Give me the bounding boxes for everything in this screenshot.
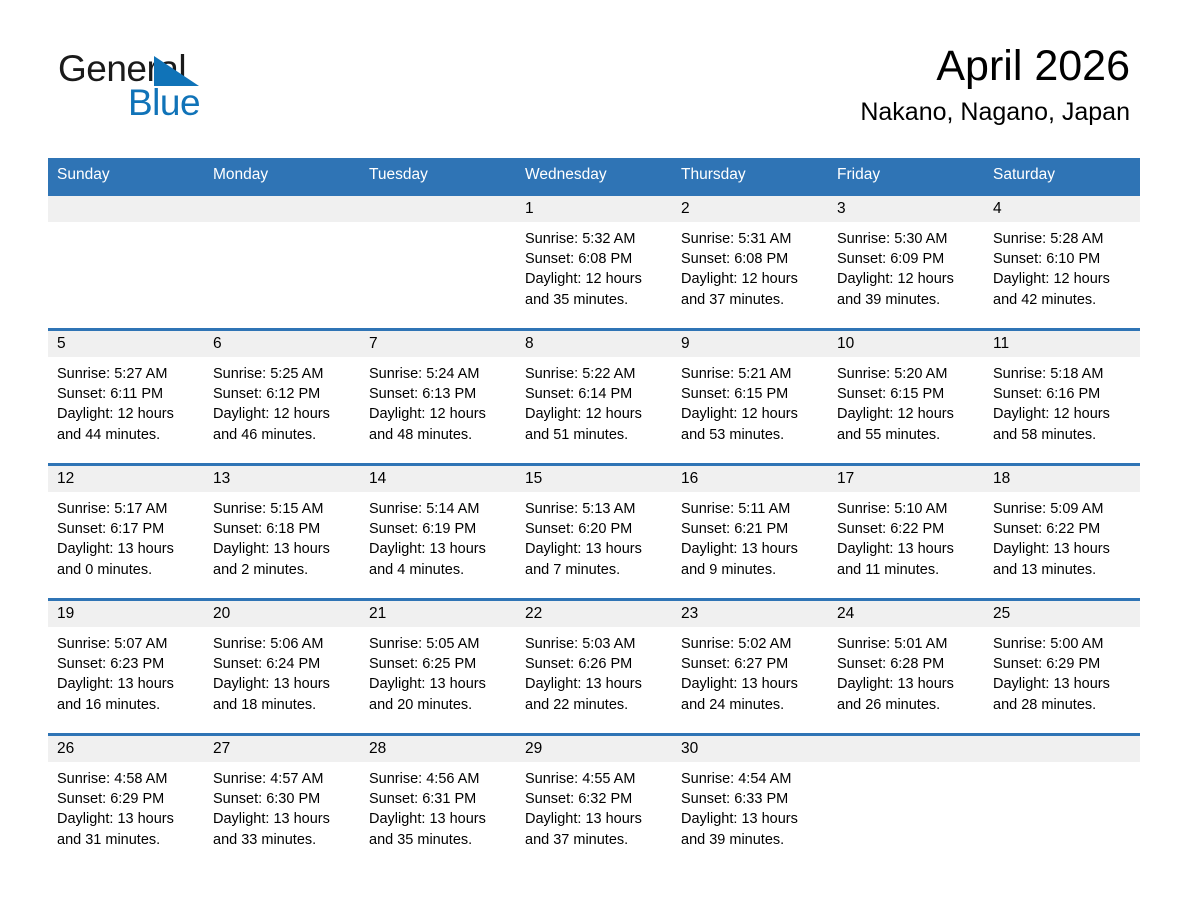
sunrise-time: Sunrise: 4:58 AM	[57, 769, 198, 789]
sunset-time: Sunset: 6:15 PM	[681, 384, 822, 404]
sunset-time: Sunset: 6:17 PM	[57, 519, 198, 539]
day-details: Sunrise: 5:25 AMSunset: 6:12 PMDaylight:…	[204, 357, 360, 445]
sunrise-time: Sunrise: 5:01 AM	[837, 634, 978, 654]
weekday-header-friday: Friday	[828, 158, 984, 195]
daylight-duration-line2: and 42 minutes.	[993, 290, 1134, 310]
sunset-time: Sunset: 6:21 PM	[681, 519, 822, 539]
sunrise-time: Sunrise: 5:10 AM	[837, 499, 978, 519]
daylight-duration-line1: Daylight: 12 hours	[993, 404, 1134, 424]
daylight-duration-line2: and 22 minutes.	[525, 695, 666, 715]
daylight-duration-line1: Daylight: 13 hours	[681, 809, 822, 829]
daylight-duration-line1: Daylight: 13 hours	[369, 539, 510, 559]
weekday-header-thursday: Thursday	[672, 158, 828, 195]
day-cell[interactable]: 6Sunrise: 5:25 AMSunset: 6:12 PMDaylight…	[204, 330, 360, 465]
day-cell[interactable]: 25Sunrise: 5:00 AMSunset: 6:29 PMDayligh…	[984, 600, 1140, 735]
weekday-header-tuesday: Tuesday	[360, 158, 516, 195]
sunrise-time: Sunrise: 4:54 AM	[681, 769, 822, 789]
sunrise-time: Sunrise: 5:27 AM	[57, 364, 198, 384]
daylight-duration-line2: and 13 minutes.	[993, 560, 1134, 580]
daylight-duration-line1: Daylight: 13 hours	[525, 674, 666, 694]
day-number: 5	[48, 331, 204, 357]
day-cell[interactable]: 12Sunrise: 5:17 AMSunset: 6:17 PMDayligh…	[48, 465, 204, 600]
sunset-time: Sunset: 6:09 PM	[837, 249, 978, 269]
sunset-time: Sunset: 6:08 PM	[525, 249, 666, 269]
day-cell[interactable]: 23Sunrise: 5:02 AMSunset: 6:27 PMDayligh…	[672, 600, 828, 735]
sunset-time: Sunset: 6:10 PM	[993, 249, 1134, 269]
daylight-duration-line1: Daylight: 12 hours	[993, 269, 1134, 289]
day-cell[interactable]: 3Sunrise: 5:30 AMSunset: 6:09 PMDaylight…	[828, 195, 984, 330]
day-cell[interactable]: 11Sunrise: 5:18 AMSunset: 6:16 PMDayligh…	[984, 330, 1140, 465]
day-details: Sunrise: 5:28 AMSunset: 6:10 PMDaylight:…	[984, 222, 1140, 310]
daylight-duration-line2: and 20 minutes.	[369, 695, 510, 715]
day-number: 29	[516, 736, 672, 762]
sunset-time: Sunset: 6:11 PM	[57, 384, 198, 404]
day-number: 13	[204, 466, 360, 492]
daylight-duration-line2: and 35 minutes.	[369, 830, 510, 850]
day-cell[interactable]: 8Sunrise: 5:22 AMSunset: 6:14 PMDaylight…	[516, 330, 672, 465]
day-cell[interactable]: 14Sunrise: 5:14 AMSunset: 6:19 PMDayligh…	[360, 465, 516, 600]
week-row: 5Sunrise: 5:27 AMSunset: 6:11 PMDaylight…	[48, 330, 1140, 465]
sunset-time: Sunset: 6:16 PM	[993, 384, 1134, 404]
day-details: Sunrise: 4:56 AMSunset: 6:31 PMDaylight:…	[360, 762, 516, 850]
sunrise-time: Sunrise: 5:14 AM	[369, 499, 510, 519]
day-number: 30	[672, 736, 828, 762]
day-cell-empty	[984, 735, 1140, 870]
sunrise-time: Sunrise: 5:06 AM	[213, 634, 354, 654]
day-number: 16	[672, 466, 828, 492]
sunset-time: Sunset: 6:28 PM	[837, 654, 978, 674]
day-number: 23	[672, 601, 828, 627]
sunset-time: Sunset: 6:32 PM	[525, 789, 666, 809]
daylight-duration-line1: Daylight: 13 hours	[213, 539, 354, 559]
day-details: Sunrise: 4:54 AMSunset: 6:33 PMDaylight:…	[672, 762, 828, 850]
sunset-time: Sunset: 6:08 PM	[681, 249, 822, 269]
sunrise-time: Sunrise: 5:30 AM	[837, 229, 978, 249]
sunrise-time: Sunrise: 5:32 AM	[525, 229, 666, 249]
daylight-duration-line1: Daylight: 12 hours	[213, 404, 354, 424]
daylight-duration-line1: Daylight: 13 hours	[681, 674, 822, 694]
daylight-duration-line2: and 31 minutes.	[57, 830, 198, 850]
daylight-duration-line1: Daylight: 13 hours	[525, 809, 666, 829]
weekday-header-wednesday: Wednesday	[516, 158, 672, 195]
day-number: 10	[828, 331, 984, 357]
sunset-time: Sunset: 6:13 PM	[369, 384, 510, 404]
daylight-duration-line2: and 46 minutes.	[213, 425, 354, 445]
sunrise-time: Sunrise: 5:07 AM	[57, 634, 198, 654]
day-details: Sunrise: 5:13 AMSunset: 6:20 PMDaylight:…	[516, 492, 672, 580]
sunset-time: Sunset: 6:29 PM	[993, 654, 1134, 674]
day-number	[48, 196, 204, 222]
sunset-time: Sunset: 6:22 PM	[993, 519, 1134, 539]
day-details: Sunrise: 5:22 AMSunset: 6:14 PMDaylight:…	[516, 357, 672, 445]
day-cell[interactable]: 15Sunrise: 5:13 AMSunset: 6:20 PMDayligh…	[516, 465, 672, 600]
sunset-time: Sunset: 6:31 PM	[369, 789, 510, 809]
daylight-duration-line2: and 9 minutes.	[681, 560, 822, 580]
daylight-duration-line1: Daylight: 12 hours	[57, 404, 198, 424]
day-details: Sunrise: 4:55 AMSunset: 6:32 PMDaylight:…	[516, 762, 672, 850]
day-number: 3	[828, 196, 984, 222]
sunset-time: Sunset: 6:14 PM	[525, 384, 666, 404]
week-row: 12Sunrise: 5:17 AMSunset: 6:17 PMDayligh…	[48, 465, 1140, 600]
calendar-table: SundayMondayTuesdayWednesdayThursdayFrid…	[48, 158, 1140, 870]
daylight-duration-line2: and 28 minutes.	[993, 695, 1134, 715]
sunset-time: Sunset: 6:30 PM	[213, 789, 354, 809]
day-details: Sunrise: 5:02 AMSunset: 6:27 PMDaylight:…	[672, 627, 828, 715]
day-cell[interactable]: 13Sunrise: 5:15 AMSunset: 6:18 PMDayligh…	[204, 465, 360, 600]
day-cell[interactable]: 22Sunrise: 5:03 AMSunset: 6:26 PMDayligh…	[516, 600, 672, 735]
day-cell[interactable]: 7Sunrise: 5:24 AMSunset: 6:13 PMDaylight…	[360, 330, 516, 465]
day-details: Sunrise: 5:05 AMSunset: 6:25 PMDaylight:…	[360, 627, 516, 715]
daylight-duration-line2: and 53 minutes.	[681, 425, 822, 445]
day-cell[interactable]: 9Sunrise: 5:21 AMSunset: 6:15 PMDaylight…	[672, 330, 828, 465]
daylight-duration-line2: and 39 minutes.	[681, 830, 822, 850]
day-details: Sunrise: 5:07 AMSunset: 6:23 PMDaylight:…	[48, 627, 204, 715]
daylight-duration-line1: Daylight: 13 hours	[369, 809, 510, 829]
sunrise-time: Sunrise: 5:18 AM	[993, 364, 1134, 384]
daylight-duration-line1: Daylight: 13 hours	[369, 674, 510, 694]
day-number: 15	[516, 466, 672, 492]
sunrise-time: Sunrise: 5:25 AM	[213, 364, 354, 384]
daylight-duration-line1: Daylight: 12 hours	[681, 404, 822, 424]
daylight-duration-line2: and 2 minutes.	[213, 560, 354, 580]
day-cell[interactable]: 5Sunrise: 5:27 AMSunset: 6:11 PMDaylight…	[48, 330, 204, 465]
day-cell[interactable]: 17Sunrise: 5:10 AMSunset: 6:22 PMDayligh…	[828, 465, 984, 600]
day-number: 1	[516, 196, 672, 222]
day-number: 17	[828, 466, 984, 492]
sunrise-time: Sunrise: 5:05 AM	[369, 634, 510, 654]
daylight-duration-line1: Daylight: 12 hours	[525, 269, 666, 289]
day-details: Sunrise: 5:30 AMSunset: 6:09 PMDaylight:…	[828, 222, 984, 310]
calendar-page: General Blue April 2026 Nakano, Nagano, …	[0, 0, 1188, 918]
sunrise-time: Sunrise: 5:28 AM	[993, 229, 1134, 249]
daylight-duration-line1: Daylight: 12 hours	[525, 404, 666, 424]
day-number	[828, 736, 984, 762]
sunset-time: Sunset: 6:12 PM	[213, 384, 354, 404]
day-number: 27	[204, 736, 360, 762]
sunrise-time: Sunrise: 4:57 AM	[213, 769, 354, 789]
sunset-time: Sunset: 6:26 PM	[525, 654, 666, 674]
day-details: Sunrise: 5:21 AMSunset: 6:15 PMDaylight:…	[672, 357, 828, 445]
daylight-duration-line1: Daylight: 12 hours	[369, 404, 510, 424]
day-details: Sunrise: 5:06 AMSunset: 6:24 PMDaylight:…	[204, 627, 360, 715]
daylight-duration-line2: and 33 minutes.	[213, 830, 354, 850]
daylight-duration-line1: Daylight: 13 hours	[837, 674, 978, 694]
sunset-time: Sunset: 6:15 PM	[837, 384, 978, 404]
day-number: 14	[360, 466, 516, 492]
sunset-time: Sunset: 6:19 PM	[369, 519, 510, 539]
sunrise-time: Sunrise: 5:21 AM	[681, 364, 822, 384]
daylight-duration-line1: Daylight: 13 hours	[213, 674, 354, 694]
day-details: Sunrise: 5:10 AMSunset: 6:22 PMDaylight:…	[828, 492, 984, 580]
day-number: 22	[516, 601, 672, 627]
daylight-duration-line1: Daylight: 13 hours	[993, 674, 1134, 694]
day-number	[360, 196, 516, 222]
day-details: Sunrise: 5:17 AMSunset: 6:17 PMDaylight:…	[48, 492, 204, 580]
daylight-duration-line2: and 26 minutes.	[837, 695, 978, 715]
day-cell[interactable]: 2Sunrise: 5:31 AMSunset: 6:08 PMDaylight…	[672, 195, 828, 330]
daylight-duration-line2: and 48 minutes.	[369, 425, 510, 445]
day-number: 18	[984, 466, 1140, 492]
general-blue-logo[interactable]: General Blue	[58, 50, 268, 130]
day-cell[interactable]: 19Sunrise: 5:07 AMSunset: 6:23 PMDayligh…	[48, 600, 204, 735]
week-row: 1Sunrise: 5:32 AMSunset: 6:08 PMDaylight…	[48, 195, 1140, 330]
day-number: 11	[984, 331, 1140, 357]
sunrise-time: Sunrise: 5:09 AM	[993, 499, 1134, 519]
daylight-duration-line2: and 55 minutes.	[837, 425, 978, 445]
daylight-duration-line1: Daylight: 12 hours	[837, 404, 978, 424]
daylight-duration-line2: and 44 minutes.	[57, 425, 198, 445]
day-cell[interactable]: 18Sunrise: 5:09 AMSunset: 6:22 PMDayligh…	[984, 465, 1140, 600]
sunset-time: Sunset: 6:22 PM	[837, 519, 978, 539]
day-cell[interactable]: 29Sunrise: 4:55 AMSunset: 6:32 PMDayligh…	[516, 735, 672, 870]
page-subtitle: Nakano, Nagano, Japan	[860, 96, 1130, 128]
day-details: Sunrise: 4:57 AMSunset: 6:30 PMDaylight:…	[204, 762, 360, 850]
day-number: 28	[360, 736, 516, 762]
day-details: Sunrise: 5:31 AMSunset: 6:08 PMDaylight:…	[672, 222, 828, 310]
day-details: Sunrise: 5:18 AMSunset: 6:16 PMDaylight:…	[984, 357, 1140, 445]
daylight-duration-line2: and 51 minutes.	[525, 425, 666, 445]
daylight-duration-line1: Daylight: 13 hours	[57, 539, 198, 559]
sunrise-time: Sunrise: 5:31 AM	[681, 229, 822, 249]
day-details: Sunrise: 5:15 AMSunset: 6:18 PMDaylight:…	[204, 492, 360, 580]
day-details	[48, 222, 204, 230]
day-details: Sunrise: 5:24 AMSunset: 6:13 PMDaylight:…	[360, 357, 516, 445]
daylight-duration-line2: and 18 minutes.	[213, 695, 354, 715]
day-details: Sunrise: 5:11 AMSunset: 6:21 PMDaylight:…	[672, 492, 828, 580]
daylight-duration-line2: and 24 minutes.	[681, 695, 822, 715]
day-cell[interactable]: 1Sunrise: 5:32 AMSunset: 6:08 PMDaylight…	[516, 195, 672, 330]
daylight-duration-line1: Daylight: 12 hours	[681, 269, 822, 289]
day-cell-empty	[204, 195, 360, 330]
sunset-time: Sunset: 6:18 PM	[213, 519, 354, 539]
sunrise-time: Sunrise: 4:56 AM	[369, 769, 510, 789]
day-cell[interactable]: 21Sunrise: 5:05 AMSunset: 6:25 PMDayligh…	[360, 600, 516, 735]
sunrise-time: Sunrise: 5:22 AM	[525, 364, 666, 384]
week-row: 19Sunrise: 5:07 AMSunset: 6:23 PMDayligh…	[48, 600, 1140, 735]
daylight-duration-line2: and 0 minutes.	[57, 560, 198, 580]
daylight-duration-line2: and 37 minutes.	[681, 290, 822, 310]
day-cell[interactable]: 28Sunrise: 4:56 AMSunset: 6:31 PMDayligh…	[360, 735, 516, 870]
sunset-time: Sunset: 6:25 PM	[369, 654, 510, 674]
weekday-header-row: SundayMondayTuesdayWednesdayThursdayFrid…	[48, 158, 1140, 195]
sunrise-time: Sunrise: 4:55 AM	[525, 769, 666, 789]
page-header: General Blue April 2026 Nakano, Nagano, …	[48, 0, 1140, 158]
daylight-duration-line1: Daylight: 13 hours	[213, 809, 354, 829]
sunset-time: Sunset: 6:24 PM	[213, 654, 354, 674]
day-number: 24	[828, 601, 984, 627]
title-block: April 2026 Nakano, Nagano, Japan	[860, 40, 1130, 128]
day-number: 12	[48, 466, 204, 492]
day-details	[204, 222, 360, 230]
sunrise-time: Sunrise: 5:02 AM	[681, 634, 822, 654]
day-details	[828, 762, 984, 770]
day-cell[interactable]: 20Sunrise: 5:06 AMSunset: 6:24 PMDayligh…	[204, 600, 360, 735]
daylight-duration-line1: Daylight: 12 hours	[837, 269, 978, 289]
day-number: 4	[984, 196, 1140, 222]
calendar-body: 1Sunrise: 5:32 AMSunset: 6:08 PMDaylight…	[48, 195, 1140, 870]
day-details: Sunrise: 5:01 AMSunset: 6:28 PMDaylight:…	[828, 627, 984, 715]
day-number: 8	[516, 331, 672, 357]
page-title: April 2026	[860, 40, 1130, 92]
daylight-duration-line2: and 16 minutes.	[57, 695, 198, 715]
weekday-header-monday: Monday	[204, 158, 360, 195]
daylight-duration-line1: Daylight: 13 hours	[57, 674, 198, 694]
sunrise-time: Sunrise: 5:03 AM	[525, 634, 666, 654]
daylight-duration-line1: Daylight: 13 hours	[525, 539, 666, 559]
sunset-time: Sunset: 6:29 PM	[57, 789, 198, 809]
day-details	[984, 762, 1140, 770]
daylight-duration-line2: and 4 minutes.	[369, 560, 510, 580]
day-number	[204, 196, 360, 222]
sunrise-time: Sunrise: 5:17 AM	[57, 499, 198, 519]
week-row: 26Sunrise: 4:58 AMSunset: 6:29 PMDayligh…	[48, 735, 1140, 870]
daylight-duration-line2: and 7 minutes.	[525, 560, 666, 580]
sunrise-time: Sunrise: 5:11 AM	[681, 499, 822, 519]
day-details: Sunrise: 4:58 AMSunset: 6:29 PMDaylight:…	[48, 762, 204, 850]
day-cell[interactable]: 4Sunrise: 5:28 AMSunset: 6:10 PMDaylight…	[984, 195, 1140, 330]
day-details: Sunrise: 5:14 AMSunset: 6:19 PMDaylight:…	[360, 492, 516, 580]
day-details: Sunrise: 5:27 AMSunset: 6:11 PMDaylight:…	[48, 357, 204, 445]
daylight-duration-line2: and 11 minutes.	[837, 560, 978, 580]
logo-text-blue: Blue	[128, 84, 200, 121]
day-number: 6	[204, 331, 360, 357]
day-number: 19	[48, 601, 204, 627]
sunset-time: Sunset: 6:23 PM	[57, 654, 198, 674]
day-number: 25	[984, 601, 1140, 627]
day-details	[360, 222, 516, 230]
day-cell-empty	[360, 195, 516, 330]
daylight-duration-line1: Daylight: 13 hours	[993, 539, 1134, 559]
day-details: Sunrise: 5:09 AMSunset: 6:22 PMDaylight:…	[984, 492, 1140, 580]
sunset-time: Sunset: 6:33 PM	[681, 789, 822, 809]
daylight-duration-line1: Daylight: 13 hours	[837, 539, 978, 559]
day-number: 7	[360, 331, 516, 357]
weekday-header-sunday: Sunday	[48, 158, 204, 195]
day-cell[interactable]: 16Sunrise: 5:11 AMSunset: 6:21 PMDayligh…	[672, 465, 828, 600]
day-cell-empty	[828, 735, 984, 870]
daylight-duration-line1: Daylight: 13 hours	[681, 539, 822, 559]
sunrise-time: Sunrise: 5:00 AM	[993, 634, 1134, 654]
weekday-header-saturday: Saturday	[984, 158, 1140, 195]
day-cell[interactable]: 26Sunrise: 4:58 AMSunset: 6:29 PMDayligh…	[48, 735, 204, 870]
day-cell[interactable]: 30Sunrise: 4:54 AMSunset: 6:33 PMDayligh…	[672, 735, 828, 870]
sunrise-time: Sunrise: 5:24 AM	[369, 364, 510, 384]
sunrise-time: Sunrise: 5:13 AM	[525, 499, 666, 519]
daylight-duration-line2: and 58 minutes.	[993, 425, 1134, 445]
day-cell[interactable]: 24Sunrise: 5:01 AMSunset: 6:28 PMDayligh…	[828, 600, 984, 735]
daylight-duration-line2: and 35 minutes.	[525, 290, 666, 310]
sunset-time: Sunset: 6:20 PM	[525, 519, 666, 539]
day-number: 20	[204, 601, 360, 627]
day-number: 26	[48, 736, 204, 762]
day-number: 9	[672, 331, 828, 357]
sunrise-time: Sunrise: 5:20 AM	[837, 364, 978, 384]
sunset-time: Sunset: 6:27 PM	[681, 654, 822, 674]
daylight-duration-line2: and 39 minutes.	[837, 290, 978, 310]
day-number	[984, 736, 1140, 762]
day-number: 2	[672, 196, 828, 222]
daylight-duration-line2: and 37 minutes.	[525, 830, 666, 850]
day-details: Sunrise: 5:20 AMSunset: 6:15 PMDaylight:…	[828, 357, 984, 445]
day-details: Sunrise: 5:32 AMSunset: 6:08 PMDaylight:…	[516, 222, 672, 310]
daylight-duration-line1: Daylight: 13 hours	[57, 809, 198, 829]
day-number: 21	[360, 601, 516, 627]
day-cell[interactable]: 27Sunrise: 4:57 AMSunset: 6:30 PMDayligh…	[204, 735, 360, 870]
day-details: Sunrise: 5:00 AMSunset: 6:29 PMDaylight:…	[984, 627, 1140, 715]
day-details: Sunrise: 5:03 AMSunset: 6:26 PMDaylight:…	[516, 627, 672, 715]
sunrise-time: Sunrise: 5:15 AM	[213, 499, 354, 519]
day-cell[interactable]: 10Sunrise: 5:20 AMSunset: 6:15 PMDayligh…	[828, 330, 984, 465]
day-cell-empty	[48, 195, 204, 330]
